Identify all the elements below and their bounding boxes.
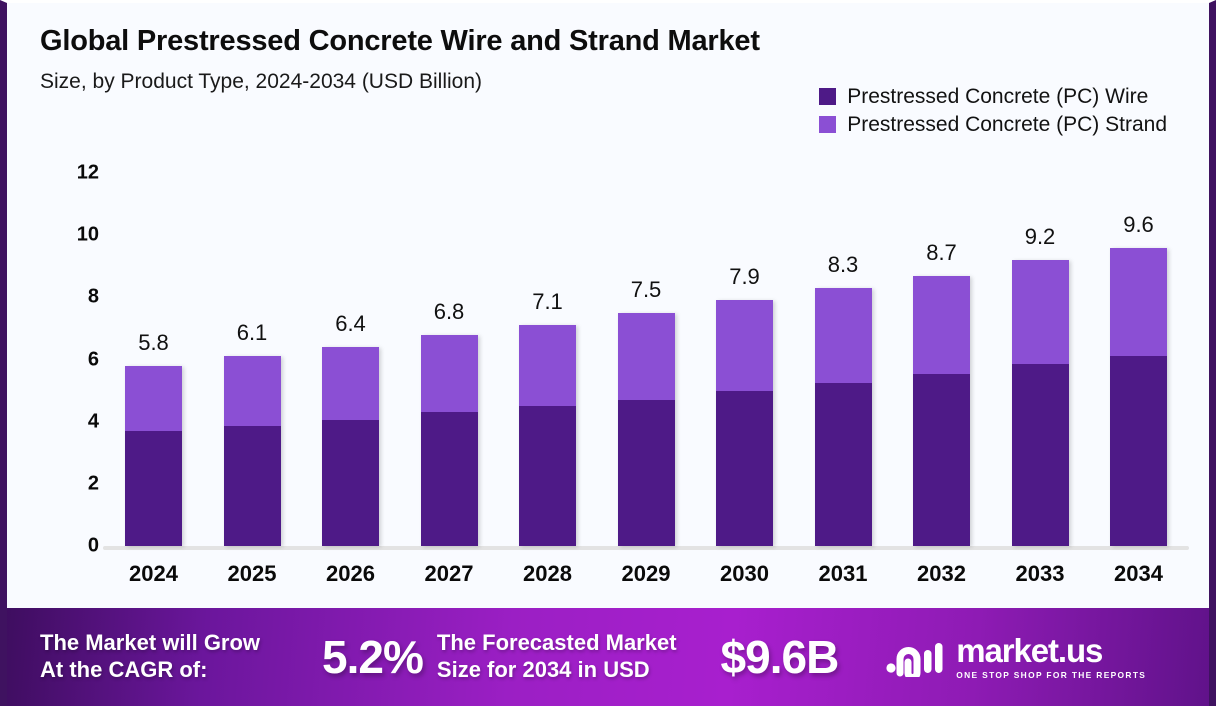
chart-header: Global Prestressed Concrete Wire and Str… [40,25,760,94]
bar-series-container: 5.86.16.46.87.17.57.98.38.79.29.6 [103,173,1189,546]
bar-total-label: 9.2 [1025,224,1056,250]
bar-segment-strand[interactable] [421,335,478,413]
bar-stack[interactable] [1110,248,1167,546]
bar-group[interactable]: 5.8 [125,173,182,546]
cagr-caption-line2: At the CAGR of: [40,657,207,682]
bar-total-label: 6.4 [335,311,366,337]
bar-segment-strand[interactable] [322,347,379,420]
forecast-caption-line2: Size for 2034 in USD [437,657,650,682]
bar-total-label: 7.5 [631,277,662,303]
market-us-logo[interactable]: market.us ONE STOP SHOP FOR THE REPORTS [886,634,1146,680]
bar-group[interactable]: 8.3 [815,173,872,546]
bar-segment-wire[interactable] [519,406,576,546]
market-us-logo-icon [886,637,944,677]
bar-segment-strand[interactable] [618,313,675,400]
x-axis-tick: 2034 [1110,561,1167,587]
bar-group[interactable]: 7.5 [618,173,675,546]
page-title: Global Prestressed Concrete Wire and Str… [40,25,760,58]
bar-segment-strand[interactable] [224,356,281,426]
summary-banner: The Market will Grow At the CAGR of: 5.2… [0,608,1216,706]
forecast-value: $9.6B [721,630,839,684]
y-axis-tick: 2 [47,472,99,495]
x-axis-tick: 2026 [322,561,379,587]
x-axis-tick: 2032 [913,561,970,587]
cagr-value: 5.2% [322,630,423,684]
infographic-chart-card: Global Prestressed Concrete Wire and Str… [0,0,1216,706]
legend-swatch-wire [819,88,836,105]
bar-group[interactable]: 9.2 [1012,173,1069,546]
x-axis-tick: 2033 [1012,561,1069,587]
bar-stack[interactable] [421,335,478,546]
forecast-caption: The Forecasted Market Size for 2034 in U… [437,630,677,684]
x-axis-tick: 2028 [519,561,576,587]
y-axis-tick: 6 [47,348,99,371]
logo-tagline: ONE STOP SHOP FOR THE REPORTS [956,670,1146,680]
bar-segment-wire[interactable] [913,374,970,547]
plot-area: 121086420 5.86.16.46.87.17.57.98.38.79.2… [7,173,1209,603]
y-axis-tick: 4 [47,410,99,433]
bar-stack[interactable] [913,276,970,546]
bar-stack[interactable] [125,366,182,546]
chart-subtitle: Size, by Product Type, 2024-2034 (USD Bi… [40,70,760,94]
bar-segment-strand[interactable] [519,325,576,406]
bar-total-label: 6.8 [434,299,465,325]
bar-total-label: 6.1 [237,320,268,346]
x-axis-tick: 2030 [716,561,773,587]
legend-item-wire: Prestressed Concrete (PC) Wire [819,85,1148,108]
bar-total-label: 7.9 [729,264,760,290]
x-axis-baseline [103,546,1189,550]
legend-item-strand: Prestressed Concrete (PC) Strand [819,113,1167,136]
bar-total-label: 5.8 [138,330,169,356]
cagr-caption: The Market will Grow At the CAGR of: [40,630,260,684]
bar-group[interactable]: 6.1 [224,173,281,546]
logo-name: market.us [956,634,1102,667]
forecast-caption-line1: The Forecasted Market [437,630,677,655]
bar-group[interactable]: 9.6 [1110,173,1167,546]
x-axis-tick: 2031 [815,561,872,587]
chart-legend: Prestressed Concrete (PC) Wire Prestress… [819,85,1167,136]
bar-segment-wire[interactable] [125,431,182,546]
bar-segment-strand[interactable] [1012,260,1069,364]
x-axis-tick: 2029 [618,561,675,587]
bar-group[interactable]: 8.7 [913,173,970,546]
bar-stack[interactable] [716,300,773,546]
legend-label-wire: Prestressed Concrete (PC) Wire [847,85,1148,108]
legend-swatch-strand [819,116,836,133]
bar-segment-strand[interactable] [125,366,182,431]
bar-group[interactable]: 7.1 [519,173,576,546]
bar-group[interactable]: 6.8 [421,173,478,546]
x-axis-tick: 2027 [421,561,478,587]
bar-stack[interactable] [815,288,872,546]
bar-stack[interactable] [618,313,675,546]
market-us-wordmark: market.us ONE STOP SHOP FOR THE REPORTS [956,634,1146,680]
bar-stack[interactable] [322,347,379,546]
bar-total-label: 9.6 [1123,212,1154,238]
bar-stack[interactable] [519,325,576,546]
bar-group[interactable]: 7.9 [716,173,773,546]
bar-stack[interactable] [224,356,281,546]
y-axis-tick: 0 [47,535,99,558]
bar-segment-wire[interactable] [1110,356,1167,546]
bar-segment-strand[interactable] [815,288,872,383]
y-axis-tick: 8 [47,286,99,309]
bar-total-label: 8.7 [926,240,957,266]
bar-segment-wire[interactable] [716,391,773,546]
bar-segment-strand[interactable] [716,300,773,390]
legend-label-strand: Prestressed Concrete (PC) Strand [847,113,1167,136]
bar-segment-wire[interactable] [421,412,478,546]
bar-total-label: 7.1 [532,289,563,315]
y-axis-tick: 12 [47,162,99,185]
y-axis-tick: 10 [47,224,99,247]
x-axis-labels: 2024202520262027202820292030203120322033… [103,561,1189,587]
bar-segment-strand[interactable] [1110,248,1167,357]
bar-stack[interactable] [1012,260,1069,546]
bar-segment-wire[interactable] [618,400,675,546]
x-axis-tick: 2024 [125,561,182,587]
bar-group[interactable]: 6.4 [322,173,379,546]
bar-segment-wire[interactable] [322,420,379,546]
bar-total-label: 8.3 [828,252,859,278]
y-axis: 121086420 [47,173,99,546]
bar-segment-wire[interactable] [815,383,872,546]
cagr-caption-line1: The Market will Grow [40,630,260,655]
bar-segment-wire[interactable] [1012,364,1069,546]
bar-segment-strand[interactable] [913,276,970,374]
bar-segment-wire[interactable] [224,426,281,546]
x-axis-tick: 2025 [224,561,281,587]
